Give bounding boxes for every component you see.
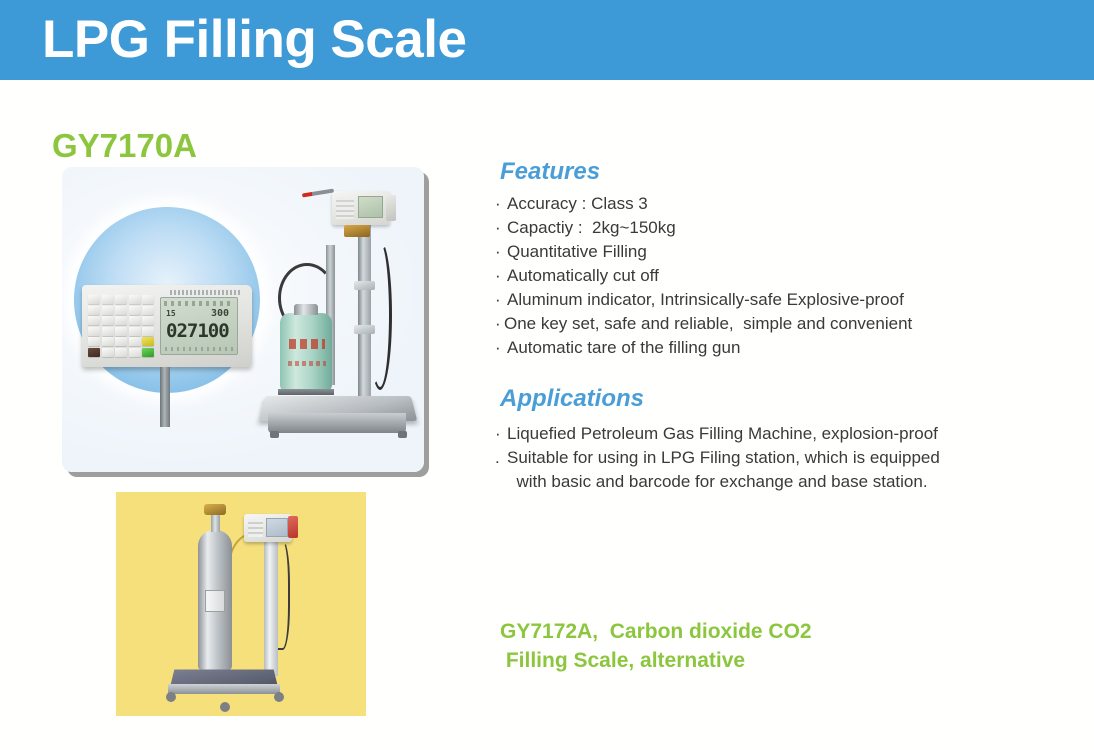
lpg-gas-cylinder	[280, 313, 332, 391]
keypad-key	[129, 337, 141, 346]
list-item-label: Accuracy : Class 3	[507, 192, 1055, 216]
keypad-key	[115, 316, 127, 325]
weighing-indicator: 15 300 027100	[82, 285, 252, 367]
list-item: · Liquefied Petroleum Gas Filling Machin…	[495, 422, 1055, 446]
list-item-label: One key set, safe and reliable, simple a…	[504, 312, 1055, 336]
lcd-preset-value: 300	[211, 308, 229, 319]
co2-cylinder-valve	[204, 504, 226, 515]
bullet-icon: ·	[495, 240, 507, 264]
keypad-key	[115, 295, 127, 304]
list-item-label: Capactiy : 2kg~150kg	[507, 216, 1055, 240]
indicator-mounting-pole	[160, 367, 170, 427]
cylinder-sublabel-text	[288, 361, 326, 366]
cylinder-label-text	[289, 339, 325, 349]
keypad-key-green	[142, 348, 154, 357]
bullet-icon: ·	[495, 264, 507, 288]
keypad-key	[115, 327, 127, 336]
post-clamp	[354, 325, 375, 334]
list-item: . Suitable for using in LPG Filing stati…	[495, 446, 1055, 470]
product-model-label: GY7170A	[52, 127, 197, 165]
keypad-key	[115, 337, 127, 346]
indicator-closeup-circle: 15 300 027100	[74, 207, 260, 393]
keypad-key	[88, 316, 100, 325]
bullet-icon: .	[495, 446, 507, 470]
main-photo-inner: 15 300 027100	[62, 167, 424, 472]
red-lever-handle	[302, 189, 334, 198]
keypad-key	[129, 306, 141, 315]
bullet-icon: ·	[495, 216, 507, 240]
co2-platform-foot	[274, 692, 284, 702]
keypad-key	[142, 306, 154, 315]
keypad-key	[88, 295, 100, 304]
keypad-key	[129, 316, 141, 325]
bullet-icon: ·	[495, 288, 507, 312]
header-banner: LPG Filling Scale	[0, 0, 1094, 80]
list-item-label: Automatic tare of the filling gun	[507, 336, 1055, 360]
keypad-key	[102, 306, 114, 315]
platform-foot	[270, 431, 279, 438]
keypad-key	[102, 348, 114, 357]
main-product-photo: 15 300 027100	[62, 167, 424, 472]
keypad-key	[129, 295, 141, 304]
bullet-icon: ·	[495, 312, 504, 336]
co2-platform-foot	[166, 692, 176, 702]
brass-valve	[344, 225, 370, 237]
platform-foot	[398, 431, 407, 438]
keypad-key	[142, 316, 154, 325]
list-item: · Aluminum indicator, Intrinsically-safe…	[495, 288, 1055, 312]
co2-platform-foot	[220, 702, 230, 712]
co2-indicator-keypad	[248, 519, 263, 537]
applications-heading: Applications	[500, 385, 644, 413]
keypad-key	[102, 295, 114, 304]
list-item-continuation: with basic and barcode for exchange and …	[495, 470, 1055, 494]
page-title: LPG Filling Scale	[42, 9, 466, 70]
features-list: · Accuracy : Class 3 · Capactiy : 2kg~15…	[495, 192, 1055, 360]
co2-indicator-lcd	[266, 518, 288, 537]
bullet-icon: ·	[495, 192, 507, 216]
co2-platform-frame	[168, 684, 280, 694]
keypad-key	[102, 316, 114, 325]
keypad-key	[142, 295, 154, 304]
lcd-secondary-value: 15	[166, 309, 176, 318]
applications-list: · Liquefied Petroleum Gas Filling Machin…	[495, 422, 1055, 494]
keypad-key	[129, 348, 141, 357]
co2-cylinder-neck	[211, 514, 220, 532]
co2-support-post	[264, 536, 278, 676]
keypad-key	[102, 337, 114, 346]
post-clamp	[354, 281, 375, 290]
co2-gas-cylinder	[198, 530, 232, 670]
features-heading: Features	[500, 158, 600, 186]
list-item-label: Aluminum indicator, Intrinsically-safe E…	[507, 288, 1055, 312]
keypad-key	[115, 306, 127, 315]
lcd-main-value: 027100	[166, 320, 229, 342]
list-item: · Capactiy : 2kg~150kg	[495, 216, 1055, 240]
keypad-key-yellow	[142, 337, 154, 346]
bullet-icon: ·	[495, 336, 507, 360]
list-item: · Automatic tare of the filling gun	[495, 336, 1055, 360]
co2-cylinder-label	[205, 590, 225, 612]
lcd-status-row	[165, 347, 233, 351]
keypad-key	[88, 337, 100, 346]
control-cable	[368, 240, 392, 390]
keypad-key	[115, 348, 127, 357]
lcd-annunciator-row	[164, 301, 234, 306]
list-item-label: Automatically cut off	[507, 264, 1055, 288]
cylinder-base	[278, 389, 334, 395]
list-item: · Automatically cut off	[495, 264, 1055, 288]
alt-product-photo	[116, 492, 366, 716]
keypad-key	[102, 327, 114, 336]
keypad-key	[129, 327, 141, 336]
indicator-brand-text	[170, 290, 240, 295]
list-item: · One key set, safe and reliable, simple…	[495, 312, 1055, 336]
cylinder-collar	[294, 304, 318, 315]
list-item-label: Suitable for using in LPG Filing station…	[507, 446, 1055, 470]
list-item-label: Liquefied Petroleum Gas Filling Machine,…	[507, 422, 1055, 446]
keypad-key	[88, 327, 100, 336]
list-item: · Accuracy : Class 3	[495, 192, 1055, 216]
filling-control-head	[332, 191, 390, 225]
head-keypad	[336, 197, 354, 219]
alt-product-caption: GY7172A, Carbon dioxide CO2 Filling Scal…	[500, 617, 812, 675]
keypad-key-dark	[88, 348, 100, 357]
list-item: · Quantitative Filling	[495, 240, 1055, 264]
co2-side-module	[288, 516, 298, 538]
keypad-key	[88, 306, 100, 315]
head-lcd-screen	[358, 196, 383, 218]
head-side-module	[386, 195, 396, 221]
list-item-label: Quantitative Filling	[507, 240, 1055, 264]
platform-body	[268, 413, 406, 433]
keypad-key	[142, 327, 154, 336]
lpg-filling-scale-assembly	[258, 185, 420, 460]
indicator-lcd-screen: 15 300 027100	[160, 297, 238, 355]
co2-weighing-indicator	[244, 514, 292, 542]
bullet-icon: ·	[495, 422, 507, 446]
indicator-keypad	[88, 295, 154, 357]
